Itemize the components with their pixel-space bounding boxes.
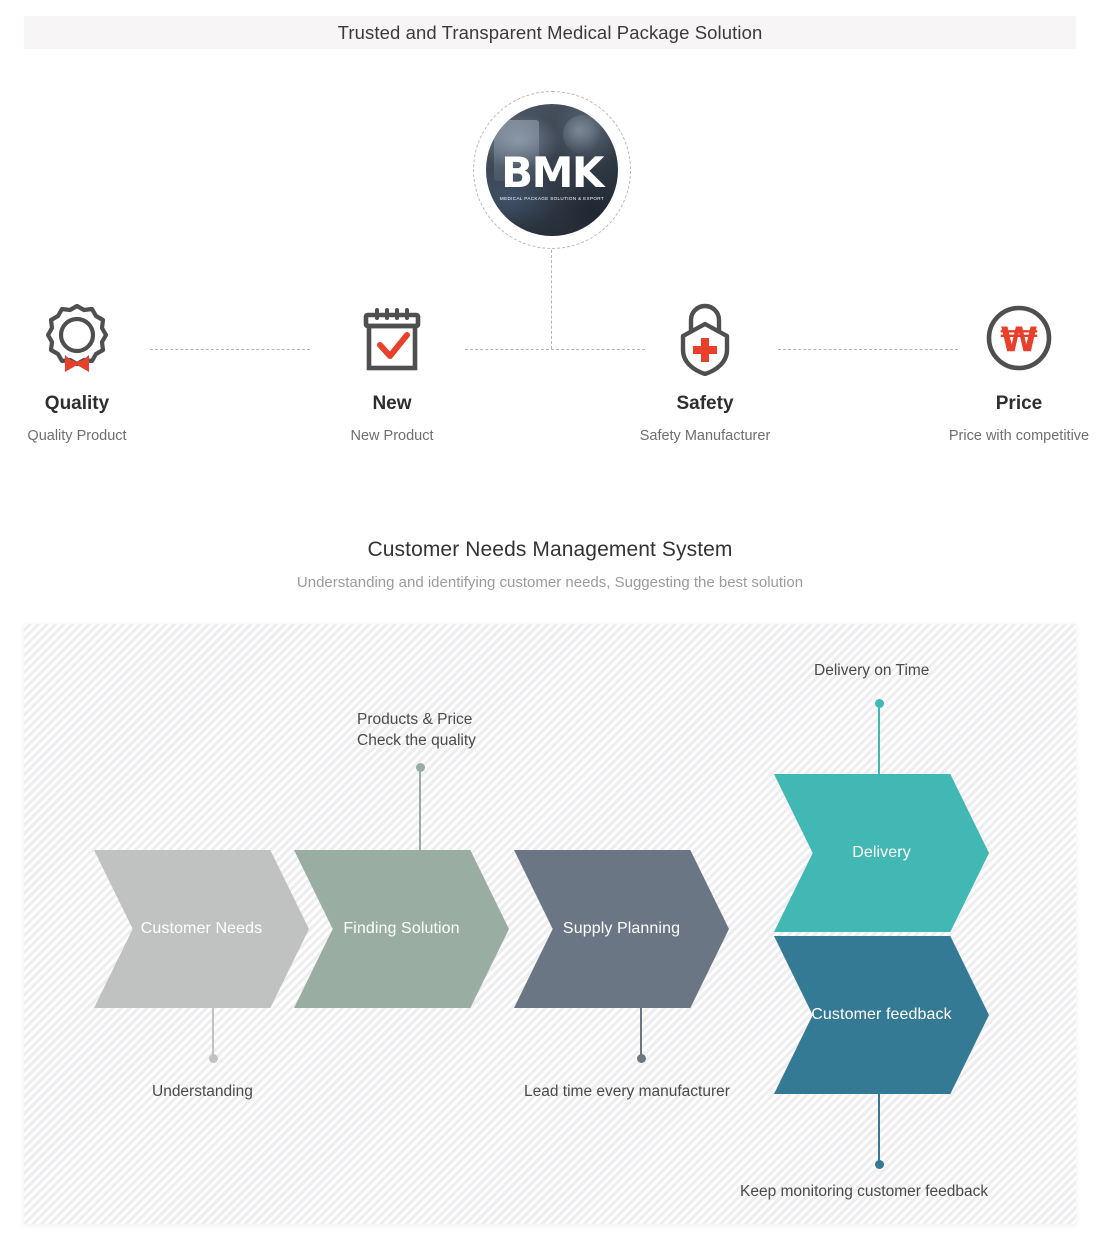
feature-title: Quality (0, 392, 177, 416)
quality-badge-icon (0, 300, 177, 376)
feature-desc: Safety Manufacturer (605, 427, 805, 445)
annotation-understanding: Understanding (152, 1081, 253, 1102)
process-diagram-panel: Delivery on Time Products & Price Check … (24, 624, 1076, 1224)
logo-background-photo: BMK MEDICAL PACKAGE SOLUTION & EXPORT (486, 104, 618, 236)
logo-text-group: BMK MEDICAL PACKAGE SOLUTION & EXPORT (486, 151, 618, 203)
stem-lead-time (640, 1006, 642, 1058)
section-title: Customer Needs Management System (0, 536, 1100, 564)
process-step-customer-needs[interactable]: Customer Needs (94, 850, 309, 1008)
process-step-finding-solution[interactable]: Finding Solution (294, 850, 509, 1008)
process-step-label: Customer Needs (141, 919, 262, 939)
company-logo-circle: BMK MEDICAL PACKAGE SOLUTION & EXPORT (473, 91, 631, 249)
won-circle-icon: ₩ (919, 300, 1100, 376)
logo-wordmark: BMK (486, 151, 618, 195)
annotation-products-price-line1: Products & Price (357, 709, 472, 730)
annotation-keep-monitoring: Keep monitoring customer feedback (740, 1181, 988, 1202)
annotation-delivery-on-time: Delivery on Time (814, 660, 929, 681)
stem-dot-delivery-on-time (875, 699, 884, 708)
feature-item-price[interactable]: ₩ Price Price with competitive (919, 300, 1100, 445)
page-title: Trusted and Transparent Medical Package … (24, 16, 1076, 49)
page-root: Trusted and Transparent Medical Package … (0, 0, 1100, 1244)
shield-cross-icon (605, 300, 805, 376)
header-bar: Trusted and Transparent Medical Package … (24, 16, 1076, 49)
feature-item-quality[interactable]: Quality Quality Product (0, 300, 177, 445)
process-step-delivery[interactable]: Delivery (774, 774, 989, 932)
stem-keep-monitoring (878, 1092, 880, 1164)
process-step-supply-planning[interactable]: Supply Planning (514, 850, 729, 1008)
process-step-label: Customer feedback (811, 1005, 951, 1025)
calendar-check-icon (292, 300, 492, 376)
section-subtitle: Understanding and identifying customer n… (0, 573, 1100, 593)
feature-title: New (292, 392, 492, 416)
svg-text:₩: ₩ (1000, 320, 1038, 360)
stem-understanding (212, 1006, 214, 1058)
feature-item-safety[interactable]: Safety Safety Manufacturer (605, 300, 805, 445)
feature-title: Safety (605, 392, 805, 416)
feature-desc: Price with competitive (919, 427, 1100, 445)
annotation-lead-time: Lead time every manufacturer (524, 1081, 730, 1102)
process-step-label: Finding Solution (343, 919, 459, 939)
feature-desc: New Product (292, 427, 492, 445)
feature-item-new[interactable]: New New Product (292, 300, 492, 445)
stem-dot-understanding (209, 1054, 218, 1063)
annotation-products-price-line2: Check the quality (357, 730, 476, 751)
feature-desc: Quality Product (0, 427, 177, 445)
stem-dot-products-price (416, 763, 425, 772)
logo-dashed-drop-line (551, 250, 552, 349)
section-heading: Customer Needs Management System Underst… (0, 536, 1100, 593)
process-step-label: Delivery (852, 843, 911, 863)
stem-delivery-on-time (878, 702, 880, 778)
feature-title: Price (919, 392, 1100, 416)
stem-dot-keep-monitoring (875, 1160, 884, 1169)
logo-tagline: MEDICAL PACKAGE SOLUTION & EXPORT (486, 195, 618, 203)
process-step-customer-feedback[interactable]: Customer feedback (774, 936, 989, 1094)
stem-dot-lead-time (637, 1054, 646, 1063)
stem-products-price (419, 767, 421, 857)
process-step-label: Supply Planning (563, 919, 680, 939)
